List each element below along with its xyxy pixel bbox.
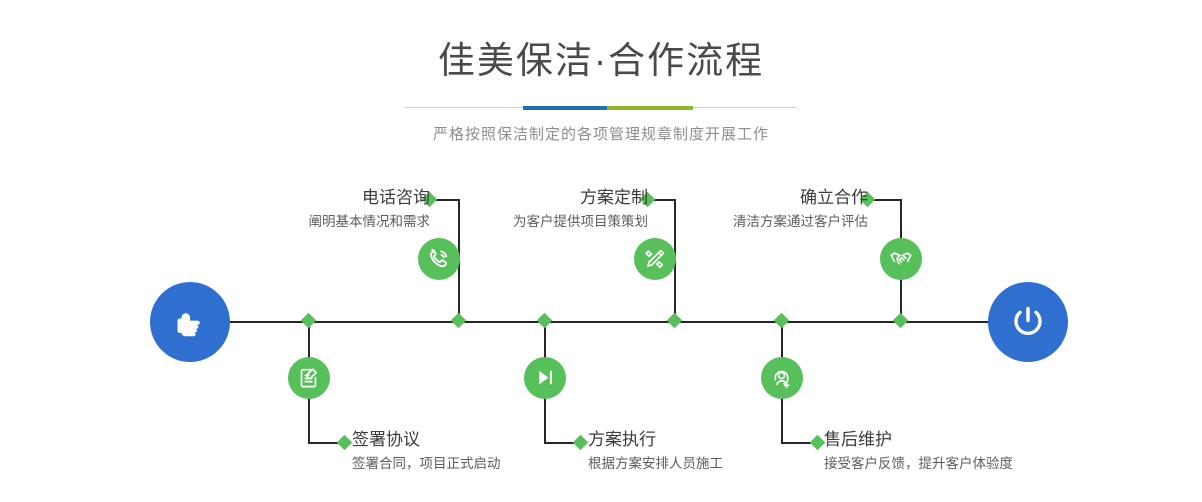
axis-marker-3 [667, 313, 683, 329]
step-title-1: 电话咨询 [160, 188, 430, 208]
step-icon-6[interactable] [761, 357, 803, 399]
step-icon-5[interactable] [880, 238, 922, 280]
axis-marker-5 [893, 313, 909, 329]
header: 佳美保洁·合作流程 严格按照保洁制定的各项管理规章制度开展工作 [0, 0, 1202, 144]
step-label-1: 电话咨询 阐明基本情况和需求 [160, 188, 430, 232]
flow-diagram-canvas: 佳美保洁·合作流程 严格按照保洁制定的各项管理规章制度开展工作 [0, 0, 1202, 502]
power-icon [1005, 299, 1051, 345]
handshake-icon [888, 246, 914, 272]
title-divider [405, 105, 797, 111]
divider-blue-segment [523, 106, 607, 110]
step-title-5: 确立合作 [620, 188, 868, 208]
axis-marker-2 [301, 313, 317, 329]
step-icon-3[interactable] [634, 238, 676, 280]
page-subtitle: 严格按照保洁制定的各项管理规章制度开展工作 [0, 123, 1202, 144]
customer-service-add-icon [769, 365, 795, 391]
phone-call-icon [426, 246, 452, 272]
document-edit-icon [296, 365, 322, 391]
timeline-start-node [150, 282, 230, 362]
step-title-6: 售后维护 [824, 430, 1154, 450]
pointing-hand-icon [168, 300, 212, 344]
axis-marker-1 [451, 313, 467, 329]
step-title-3: 方案定制 [400, 188, 648, 208]
step-desc-3: 为客户提供项目策策划 [400, 212, 648, 232]
play-execute-icon [532, 365, 558, 391]
label-marker-2 [337, 435, 353, 451]
axis-marker-4 [537, 313, 553, 329]
page-title: 佳美保洁·合作流程 [0, 42, 1202, 79]
step-icon-1[interactable] [418, 238, 460, 280]
step-label-6: 售后维护 接受客户反馈，提升客户体验度 [824, 430, 1154, 474]
divider-green-segment [607, 106, 693, 110]
step-desc-5: 清洁方案通过客户评估 [620, 212, 868, 232]
pencil-ruler-icon [642, 246, 668, 272]
step-desc-6: 接受客户反馈，提升客户体验度 [824, 454, 1154, 474]
axis-marker-6 [774, 313, 790, 329]
step-desc-1: 阐明基本情况和需求 [160, 212, 430, 232]
step-icon-2[interactable] [288, 357, 330, 399]
step-label-3: 方案定制 为客户提供项目策策划 [400, 188, 648, 232]
timeline-axis [150, 321, 1052, 323]
timeline-end-node [988, 282, 1068, 362]
step-label-5: 确立合作 清洁方案通过客户评估 [620, 188, 868, 232]
step-icon-4[interactable] [524, 357, 566, 399]
